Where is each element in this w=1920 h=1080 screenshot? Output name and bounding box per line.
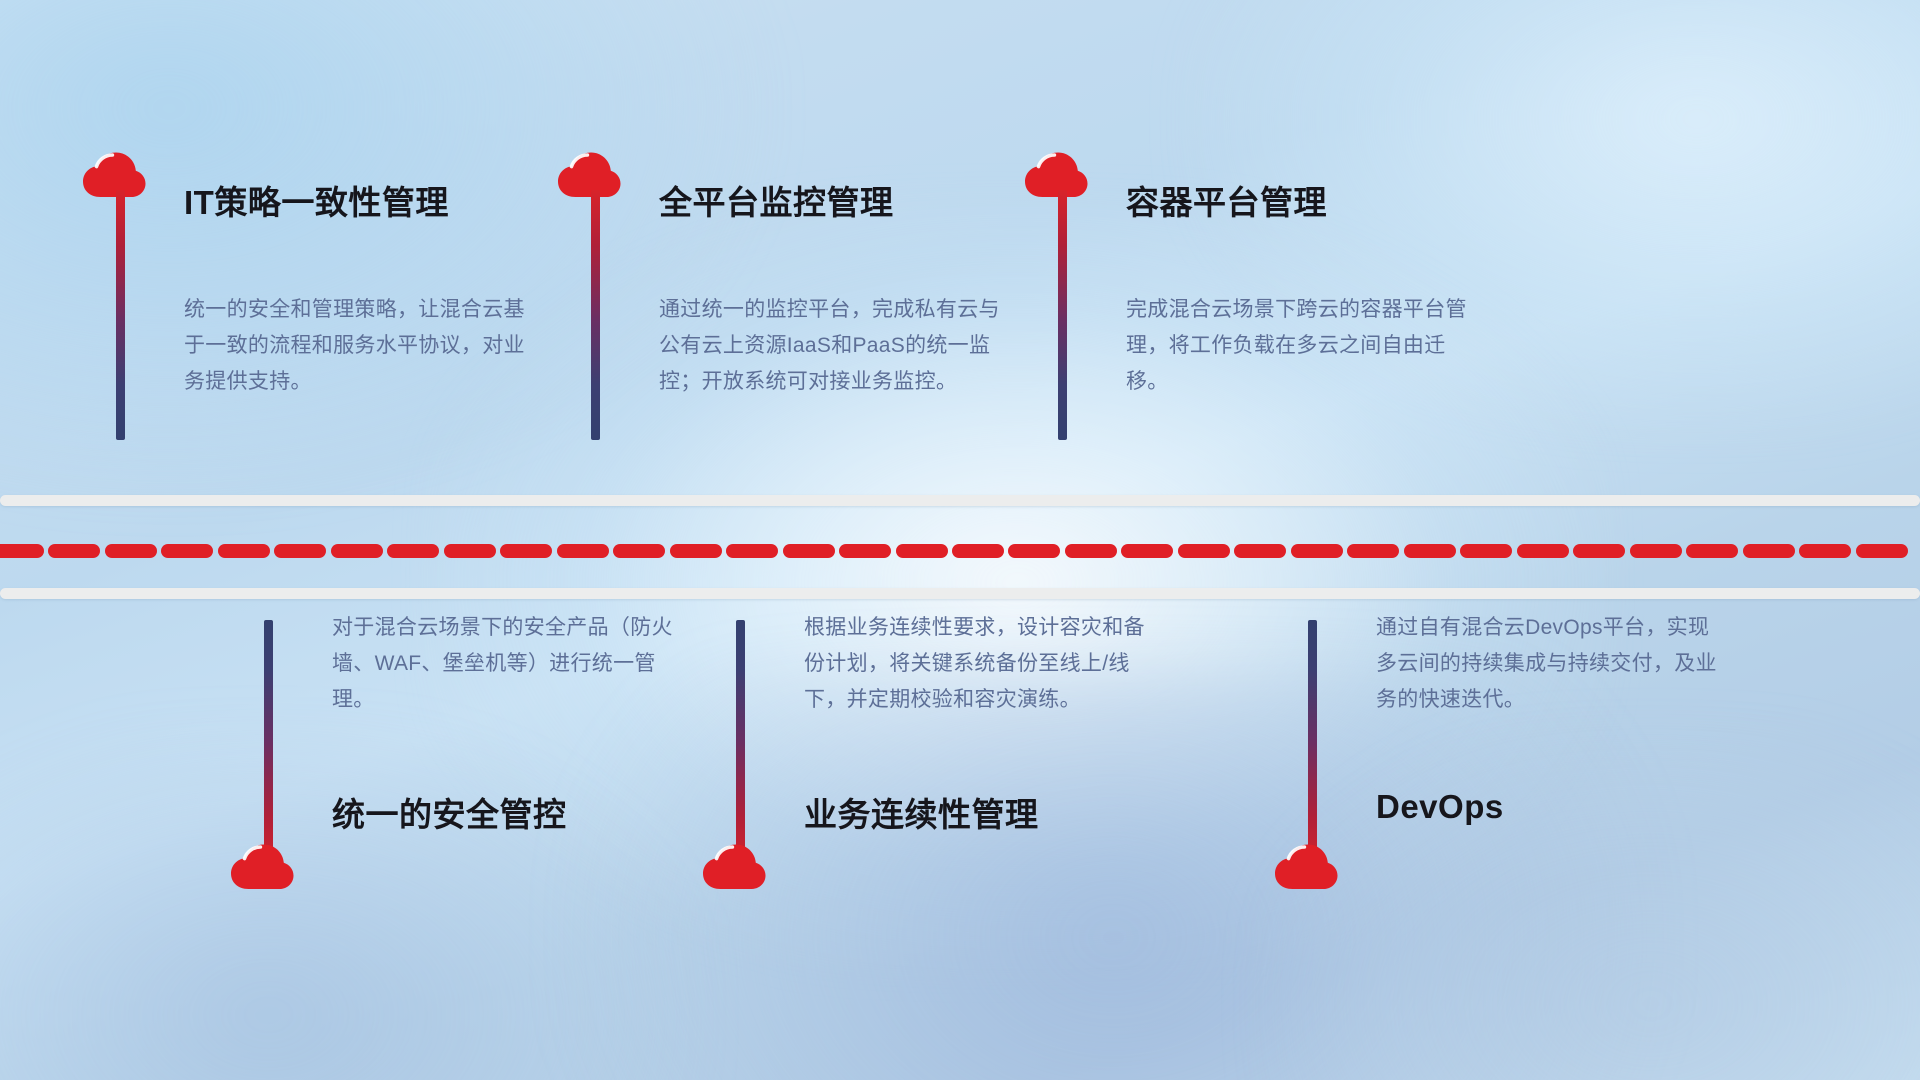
dash-segment — [1291, 544, 1343, 558]
dash-segment — [218, 544, 270, 558]
cloud-icon — [555, 150, 623, 200]
card-body: 通过自有混合云DevOps平台，实现多云间的持续集成与持续交付，及业务的快速迭代… — [1376, 610, 1726, 718]
dash-segment — [613, 544, 665, 558]
card-heading: IT策略一致性管理 — [184, 176, 449, 224]
dash-segment — [1404, 544, 1456, 558]
dash-segment — [1856, 544, 1908, 558]
connector-line — [116, 190, 125, 440]
dash-segment — [952, 544, 1004, 558]
connector-line — [264, 620, 273, 872]
dash-segment — [161, 544, 213, 558]
dash-segment — [1065, 544, 1117, 558]
card-body: 通过统一的监控平台，完成私有云与公有云上资源IaaS和PaaS的统一监控；开放系… — [659, 292, 1009, 400]
dash-segment — [1347, 544, 1399, 558]
dash-segment — [105, 544, 157, 558]
dash-segment — [387, 544, 439, 558]
dash-segment — [557, 544, 609, 558]
connector-line — [736, 620, 745, 872]
dash-segment — [500, 544, 552, 558]
dash-segment — [1686, 544, 1738, 558]
card-heading: 业务连续性管理 — [804, 788, 1039, 836]
dash-segment — [48, 544, 100, 558]
card-body: 对于混合云场景下的安全产品（防火墙、WAF、堡垒机等）进行统一管理。 — [332, 610, 682, 718]
cloud-icon — [228, 842, 296, 892]
card-heading: 全平台监控管理 — [659, 176, 894, 224]
card-heading: 统一的安全管控 — [332, 788, 567, 836]
card-heading: 容器平台管理 — [1126, 176, 1327, 224]
dash-segment — [1573, 544, 1625, 558]
dash-segment — [670, 544, 722, 558]
connector-line — [591, 190, 600, 440]
dash-segment — [1517, 544, 1569, 558]
card-body: 根据业务连续性要求，设计容灾和备份计划，将关键系统备份至线上/线下，并定期校验和… — [804, 610, 1154, 718]
card-heading: DevOps — [1376, 788, 1504, 826]
dash-segment — [1460, 544, 1512, 558]
dash-segment — [1121, 544, 1173, 558]
dash-segment — [1178, 544, 1230, 558]
dash-segment — [896, 544, 948, 558]
cloud-icon — [1022, 150, 1090, 200]
cloud-icon — [700, 842, 768, 892]
cloud-icon — [1272, 842, 1340, 892]
dash-segment — [444, 544, 496, 558]
rail-bottom-line — [0, 588, 1920, 599]
dash-segment — [839, 544, 891, 558]
dash-segment — [726, 544, 778, 558]
dash-segment — [331, 544, 383, 558]
connector-line — [1058, 190, 1067, 440]
infographic-canvas: IT策略一致性管理 统一的安全和管理策略，让混合云基于一致的流程和服务水平协议，… — [0, 0, 1920, 1080]
dash-segment — [1008, 544, 1060, 558]
dash-segment — [1234, 544, 1286, 558]
cloud-icon — [80, 150, 148, 200]
connector-line — [1308, 620, 1317, 872]
rail-top-line — [0, 495, 1920, 506]
dash-segment — [274, 544, 326, 558]
dash-segment — [783, 544, 835, 558]
card-body: 统一的安全和管理策略，让混合云基于一致的流程和服务水平协议，对业务提供支持。 — [184, 292, 534, 400]
dashed-center-line — [0, 544, 1920, 558]
card-body: 完成混合云场景下跨云的容器平台管理，将工作负载在多云之间自由迁移。 — [1126, 292, 1476, 400]
dash-segment — [1630, 544, 1682, 558]
dash-segment — [1743, 544, 1795, 558]
background-glow-bottom-right — [1267, 734, 1920, 1080]
dash-segment — [0, 544, 44, 558]
dash-segment — [1799, 544, 1851, 558]
